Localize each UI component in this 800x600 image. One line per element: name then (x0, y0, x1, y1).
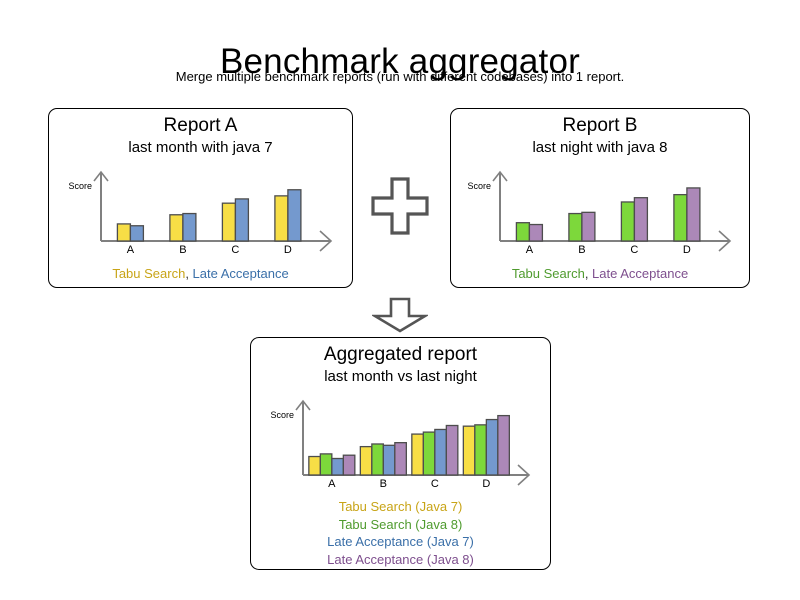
report-b-chart: ScoreABCD (464, 158, 736, 263)
bar-B-3 (383, 445, 395, 475)
report-b-subtitle: last night with java 8 (451, 138, 749, 158)
legend-item-2: Late Acceptance (193, 266, 289, 281)
page-subtitle: Merge multiple benchmark reports (run wi… (0, 68, 800, 86)
x-tick-label-C: C (430, 478, 438, 490)
x-tick-label-A: A (328, 478, 336, 490)
bar-A-1 (516, 223, 529, 241)
report-a-chart: ScoreABCD (65, 158, 337, 263)
legend-separator: , (585, 266, 592, 281)
legend-item-2: Tabu Search (Java 8) (251, 516, 550, 534)
bar-A-2 (130, 226, 143, 241)
report-b-panel: Report B last night with java 8 ScoreABC… (450, 108, 750, 288)
down-arrow-icon (372, 297, 428, 333)
legend-item-1: Tabu Search (Java 7) (251, 498, 550, 516)
x-tick-label-A: A (126, 244, 134, 256)
aggregated-title: Aggregated report (251, 343, 550, 367)
aggregated-legend: Tabu Search (Java 7)Tabu Search (Java 8)… (251, 498, 550, 568)
report-a-plot: ScoreABCD (65, 158, 337, 263)
x-tick-label-D: D (283, 244, 291, 256)
aggregated-subtitle: last month vs last night (251, 367, 550, 387)
report-a-panel: Report A last month with java 7 ScoreABC… (48, 108, 353, 288)
aggregated-chart: ScoreABCD (267, 387, 535, 497)
report-a-legend: Tabu Search, Late Acceptance (49, 265, 352, 282)
bar-A-1 (117, 224, 130, 241)
bar-C-3 (434, 429, 446, 475)
plus-sign-icon (369, 175, 431, 237)
bar-D-2 (287, 190, 300, 241)
x-tick-label-A: A (526, 244, 534, 256)
report-a-subtitle: last month with java 7 (49, 138, 352, 158)
bar-B-4 (394, 443, 406, 475)
bar-C-2 (423, 432, 435, 475)
bar-A-1 (308, 457, 320, 475)
legend-item-4: Late Acceptance (Java 8) (251, 551, 550, 569)
legend-separator: , (185, 266, 192, 281)
aggregated-y-axis-label: Score (270, 410, 294, 420)
report-a-y-axis-label: Score (68, 181, 92, 191)
report-b-legend: Tabu Search, Late Acceptance (451, 265, 749, 282)
bar-A-2 (320, 454, 332, 475)
x-tick-label-B: B (578, 244, 585, 256)
legend-item-1: Tabu Search (512, 266, 585, 281)
report-b-plot: ScoreABCD (464, 158, 736, 263)
bar-C-1 (411, 434, 423, 475)
bar-A-3 (331, 459, 343, 476)
report-a-title: Report A (49, 114, 352, 138)
bar-C-1 (621, 202, 634, 241)
x-tick-label-C: C (630, 244, 638, 256)
bar-B-1 (360, 447, 372, 475)
bar-A-4 (343, 455, 355, 475)
bar-D-2 (474, 425, 486, 475)
bar-B-1 (569, 214, 582, 241)
bar-D-1 (463, 426, 475, 475)
x-tick-label-B: B (179, 244, 186, 256)
legend-item-2: Late Acceptance (592, 266, 688, 281)
x-tick-label-C: C (231, 244, 239, 256)
report-b-title: Report B (451, 114, 749, 138)
legend-item-3: Late Acceptance (Java 7) (251, 533, 550, 551)
x-tick-label-D: D (683, 244, 691, 256)
bar-D-4 (497, 416, 509, 475)
bar-B-2 (182, 214, 195, 241)
bar-D-1 (274, 196, 287, 241)
x-tick-label-D: D (482, 478, 490, 490)
bar-C-2 (235, 199, 248, 241)
aggregated-plot: ScoreABCD (267, 387, 535, 497)
bar-B-1 (169, 215, 182, 241)
bar-C-4 (446, 426, 458, 476)
bar-D-3 (486, 420, 498, 475)
bar-C-1 (222, 203, 235, 241)
legend-item-1: Tabu Search (112, 266, 185, 281)
bar-A-2 (529, 225, 542, 241)
bar-D-1 (674, 195, 687, 241)
x-tick-label-B: B (379, 478, 386, 490)
bar-B-2 (582, 212, 595, 241)
bar-C-2 (634, 198, 647, 241)
aggregated-panel: Aggregated report last month vs last nig… (250, 337, 551, 570)
bar-D-2 (687, 188, 700, 241)
report-b-y-axis-label: Score (467, 181, 491, 191)
bar-B-2 (371, 444, 383, 475)
